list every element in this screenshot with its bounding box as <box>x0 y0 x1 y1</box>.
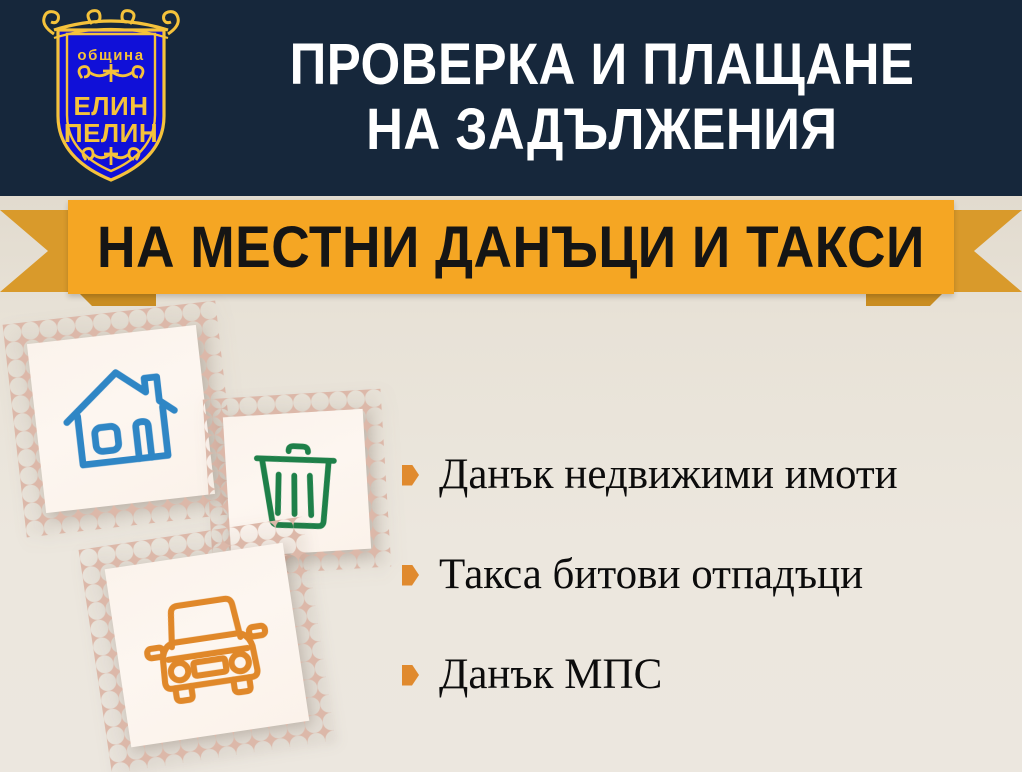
tax-types-list: Данък недвижими имоти Такса битови отпад… <box>402 424 1014 724</box>
stamp-card-vehicle-tax <box>79 517 336 772</box>
header-bar: община ЕЛИН ПЕЛИН <box>0 0 1022 196</box>
ribbon-banner: НА МЕСТНИ ДАНЪЦИ И ТАКСИ <box>68 200 954 294</box>
svg-text:ПЕЛИН: ПЕЛИН <box>64 118 158 148</box>
bullet-arrow-icon <box>402 665 419 686</box>
ribbon-label: НА МЕСТНИ ДАНЪЦИ И ТАКСИ <box>97 214 925 281</box>
list-item-label: Данък недвижими имоти <box>439 453 898 496</box>
page-title: ПРОВЕРКА И ПЛАЩАНЕ НА ЗАДЪЛЖЕНИЯ <box>196 18 1008 178</box>
stamp-paper <box>105 543 310 748</box>
bullet-arrow-icon <box>402 565 419 586</box>
list-item[interactable]: Такса битови отпадъци <box>402 524 1014 624</box>
house-icon <box>51 349 190 488</box>
municipality-logo: община ЕЛИН ПЕЛИН <box>36 8 186 186</box>
list-item-label: Данък МПС <box>439 653 662 696</box>
car-icon <box>131 569 282 720</box>
bullet-arrow-icon <box>402 465 419 486</box>
stamp-paper <box>27 325 215 513</box>
coat-of-arms-icon: община ЕЛИН ПЕЛИН <box>36 8 186 186</box>
svg-text:община: община <box>77 47 144 64</box>
poster-canvas: община ЕЛИН ПЕЛИН <box>0 0 1022 772</box>
title-line-1: ПРОВЕРКА И ПЛАЩАНЕ <box>290 33 915 98</box>
subtitle-ribbon: НА МЕСТНИ ДАНЪЦИ И ТАКСИ <box>0 196 1022 308</box>
list-item[interactable]: Данък МПС <box>402 624 1014 724</box>
list-item[interactable]: Данък недвижими имоти <box>402 424 1014 524</box>
svg-text:ЕЛИН: ЕЛИН <box>73 91 148 121</box>
list-item-label: Такса битови отпадъци <box>439 553 863 596</box>
title-line-2: НА ЗАДЪЛЖЕНИЯ <box>366 98 837 163</box>
